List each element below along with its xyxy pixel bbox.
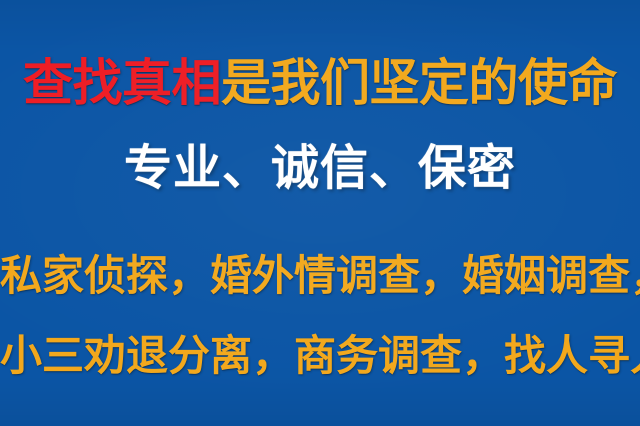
promotional-banner: 查找真相是我们坚定的使命 专业、诚信、保密 私家侦探，婚外情调查，婚姻调查， 小…: [0, 0, 640, 426]
services-line-one: 私家侦探，婚外情调查，婚姻调查，: [0, 255, 640, 305]
headline-secondary-text: 是我们坚定的使命: [221, 58, 617, 108]
headline-line: 查找真相是我们坚定的使命: [0, 58, 640, 114]
services-line-two: 小三劝退分离，商务调查，找人寻人: [0, 335, 640, 385]
slogan-line: 专业、诚信、保密: [0, 144, 640, 198]
headline-emphasis-text: 查找真相: [23, 58, 221, 108]
